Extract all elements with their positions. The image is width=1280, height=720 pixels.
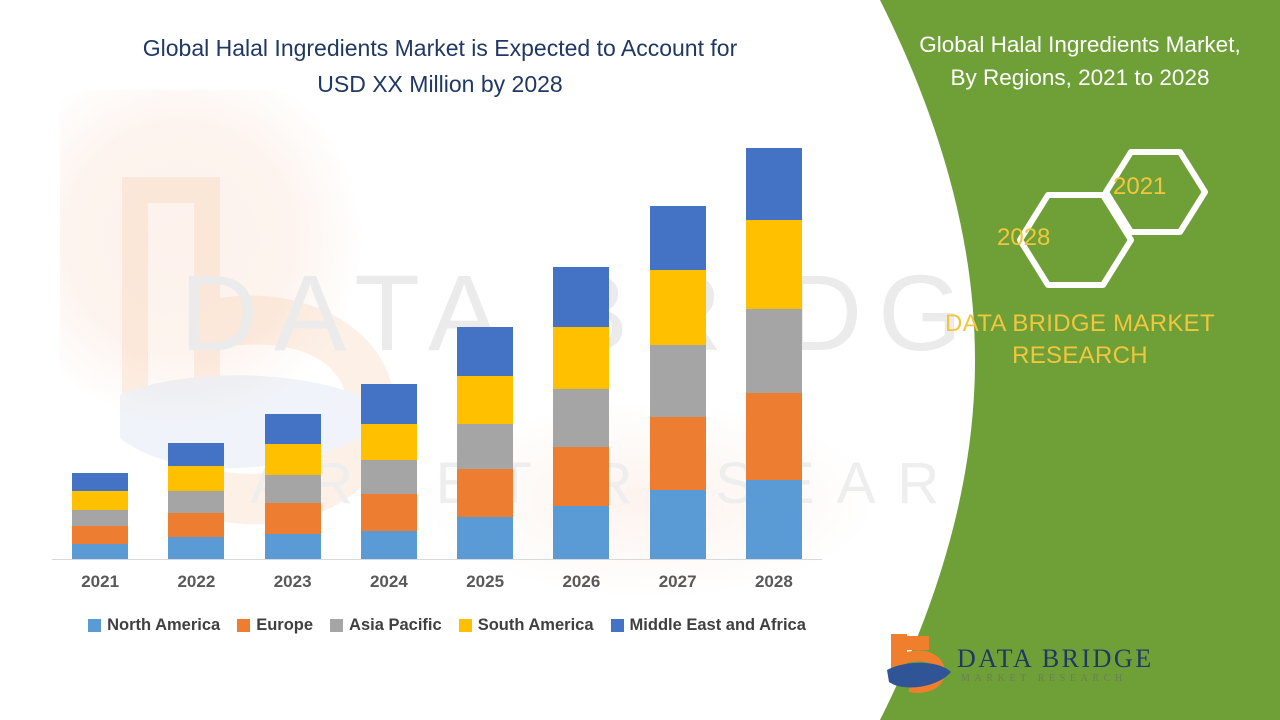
bar-segment[interactable]: [361, 531, 417, 559]
brand-name: DATA BRIDGE MARKET RESEARCH: [900, 308, 1260, 372]
bar-segment[interactable]: [553, 327, 609, 389]
hexagon-badges: 2028 2021: [975, 140, 1275, 300]
stacked-bar-2023[interactable]: [265, 414, 321, 559]
bar-segment[interactable]: [265, 444, 321, 475]
stacked-bar-2022[interactable]: [168, 443, 224, 559]
hexagon-label-2028: 2028: [997, 224, 1050, 252]
bar-segment[interactable]: [457, 469, 513, 517]
chart-panel: Global Halal Ingredients Market is Expec…: [0, 0, 880, 720]
legend-item[interactable]: Europe: [237, 616, 313, 635]
bar-segment[interactable]: [746, 148, 802, 219]
stacked-bar-2026[interactable]: [553, 267, 609, 559]
bar-segment[interactable]: [746, 393, 802, 481]
legend-label: North America: [107, 616, 220, 635]
bar-segment[interactable]: [746, 220, 802, 310]
panel-title-line-1: Global Halal Ingredients Market,: [888, 28, 1272, 61]
bar-segment[interactable]: [746, 309, 802, 392]
legend-swatch-icon: [611, 619, 624, 632]
bar-segment[interactable]: [168, 466, 224, 491]
bar-slot: [148, 121, 244, 559]
x-axis-line: [52, 559, 822, 560]
x-axis-label-2027: 2027: [630, 572, 726, 592]
legend-item[interactable]: Middle East and Africa: [611, 616, 806, 635]
x-axis-label-2025: 2025: [437, 572, 533, 592]
panel-title-line-2: By Regions, 2021 to 2028: [888, 61, 1272, 94]
bar-slot: [533, 121, 629, 559]
stacked-bar-2028[interactable]: [746, 148, 802, 559]
bar-slot: [437, 121, 533, 559]
stacked-bar-2024[interactable]: [361, 384, 417, 559]
chart-title-line-2: USD XX Million by 2028: [60, 66, 820, 102]
chart-infographic: DATA BRIDGE MARKET RESEARCH Global Halal…: [0, 0, 1280, 720]
bar-slot: [341, 121, 437, 559]
x-axis-label-2024: 2024: [341, 572, 437, 592]
bar-segment[interactable]: [72, 491, 128, 510]
stacked-bar-2027[interactable]: [650, 206, 706, 559]
legend-swatch-icon: [330, 619, 343, 632]
legend-swatch-icon: [237, 619, 250, 632]
logo-wordmark: DATA BRIDGE: [957, 644, 1154, 674]
x-axis-label-2028: 2028: [726, 572, 822, 592]
bar-segment[interactable]: [72, 510, 128, 526]
bar-segment[interactable]: [168, 443, 224, 466]
logo-tagline: MARKET RESEARCH: [961, 673, 1127, 684]
stacked-bar-2025[interactable]: [457, 327, 513, 559]
bar-segment[interactable]: [361, 460, 417, 494]
chart-legend: North AmericaEuropeAsia PacificSouth Ame…: [52, 616, 842, 635]
legend-label: South America: [478, 616, 594, 635]
bar-segment[interactable]: [650, 270, 706, 346]
bar-group: [52, 121, 822, 559]
x-axis-label-2021: 2021: [52, 572, 148, 592]
bar-segment[interactable]: [553, 267, 609, 327]
bar-segment[interactable]: [265, 414, 321, 444]
bar-segment[interactable]: [168, 537, 224, 559]
legend-label: Middle East and Africa: [630, 616, 806, 635]
bar-segment[interactable]: [457, 517, 513, 559]
x-axis-label-2026: 2026: [533, 572, 629, 592]
bar-segment[interactable]: [361, 384, 417, 425]
brand-name-line-1: DATA BRIDGE MARKET: [900, 308, 1260, 340]
legend-item[interactable]: North America: [88, 616, 220, 635]
bar-segment[interactable]: [168, 513, 224, 537]
bar-segment[interactable]: [361, 494, 417, 530]
bar-slot: [52, 121, 148, 559]
bar-segment[interactable]: [553, 506, 609, 559]
x-axis-label-2023: 2023: [245, 572, 341, 592]
panel-title: Global Halal Ingredients Market, By Regi…: [888, 28, 1272, 94]
legend-item[interactable]: South America: [459, 616, 594, 635]
bar-segment[interactable]: [553, 389, 609, 447]
bar-segment[interactable]: [72, 526, 128, 544]
bar-slot: [245, 121, 341, 559]
brand-name-line-2: RESEARCH: [900, 340, 1260, 372]
legend-label: Europe: [256, 616, 313, 635]
bar-segment[interactable]: [746, 480, 802, 559]
bar-segment[interactable]: [72, 473, 128, 492]
legend-item[interactable]: Asia Pacific: [330, 616, 442, 635]
legend-swatch-icon: [88, 619, 101, 632]
bar-segment[interactable]: [265, 534, 321, 559]
bar-segment[interactable]: [265, 475, 321, 503]
chart-title: Global Halal Ingredients Market is Expec…: [60, 30, 820, 102]
chart-title-line-1: Global Halal Ingredients Market is Expec…: [60, 30, 820, 66]
bar-slot: [630, 121, 726, 559]
bar-segment[interactable]: [72, 544, 128, 559]
bar-segment[interactable]: [553, 447, 609, 506]
plot-area: [52, 120, 822, 560]
bar-segment[interactable]: [650, 490, 706, 559]
bar-segment[interactable]: [650, 417, 706, 490]
x-axis-labels: 20212022202320242025202620272028: [52, 572, 822, 592]
bar-segment[interactable]: [361, 424, 417, 460]
legend-swatch-icon: [459, 619, 472, 632]
bar-segment[interactable]: [650, 345, 706, 416]
bar-segment[interactable]: [457, 424, 513, 469]
bar-segment[interactable]: [265, 503, 321, 534]
bar-segment[interactable]: [457, 327, 513, 376]
bar-segment[interactable]: [457, 376, 513, 424]
logo-mark-icon: [885, 630, 955, 702]
bar-slot: [726, 121, 822, 559]
legend-label: Asia Pacific: [349, 616, 442, 635]
bar-segment[interactable]: [650, 206, 706, 270]
hexagon-label-2021: 2021: [1113, 173, 1166, 201]
bar-segment[interactable]: [168, 491, 224, 513]
brand-panel-content: Global Halal Ingredients Market, By Regi…: [880, 0, 1280, 720]
x-axis-label-2022: 2022: [148, 572, 244, 592]
data-bridge-logo: DATA BRIDGE MARKET RESEARCH: [885, 630, 1110, 710]
stacked-bar-2021[interactable]: [72, 473, 128, 559]
hexagon-outlines-icon: [975, 140, 1275, 300]
